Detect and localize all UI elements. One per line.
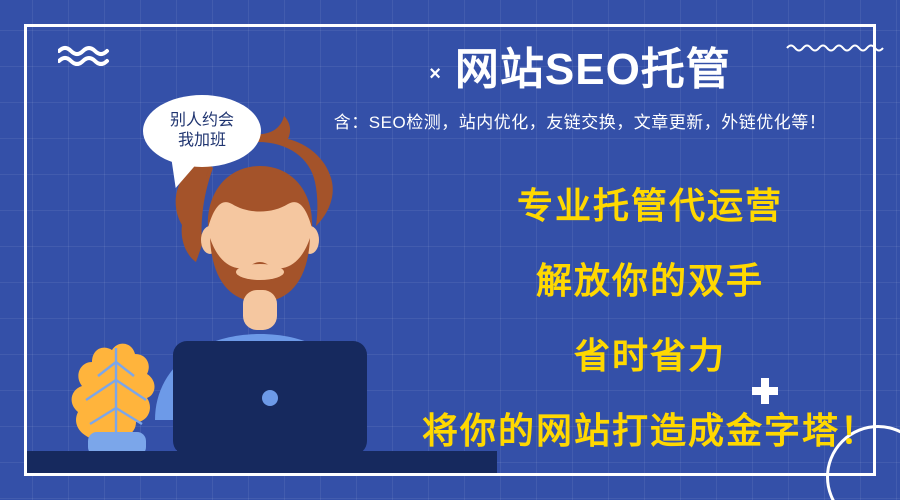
speech-bubble: 别人约会 我加班 <box>143 95 261 167</box>
wavy-lines-icon <box>58 44 114 66</box>
desk-surface <box>27 451 497 475</box>
slogan-item: 将你的网站打造成金字塔！ <box>400 413 900 449</box>
speech-bubble-line-2: 我加班 <box>178 131 226 151</box>
slogan-list: 专业托管代运营 解放你的双手 省时省力 将你的网站打造成金字塔！ <box>400 188 900 449</box>
slogan-item: 省时省力 <box>400 338 900 374</box>
slogan-item: 解放你的双手 <box>400 263 900 299</box>
desk-edge <box>27 452 47 474</box>
seo-hosting-banner: 别人约会 我加班 × 网站SEO托管 含：SEO检测，站内优化，友链交换，文章更… <box>0 0 900 500</box>
close-icon: × <box>429 64 441 84</box>
speech-bubble-line-1: 别人约会 <box>170 111 234 131</box>
page-title: 网站SEO托管 <box>455 46 731 94</box>
slogan-item: 专业托管代运营 <box>400 188 900 224</box>
page-subtitle: 含：SEO检测，站内优化，友链交换，文章更新，外链优化等！ <box>280 108 880 133</box>
header-block: × 网站SEO托管 含：SEO检测，站内优化，友链交换，文章更新，外链优化等！ <box>280 46 880 133</box>
